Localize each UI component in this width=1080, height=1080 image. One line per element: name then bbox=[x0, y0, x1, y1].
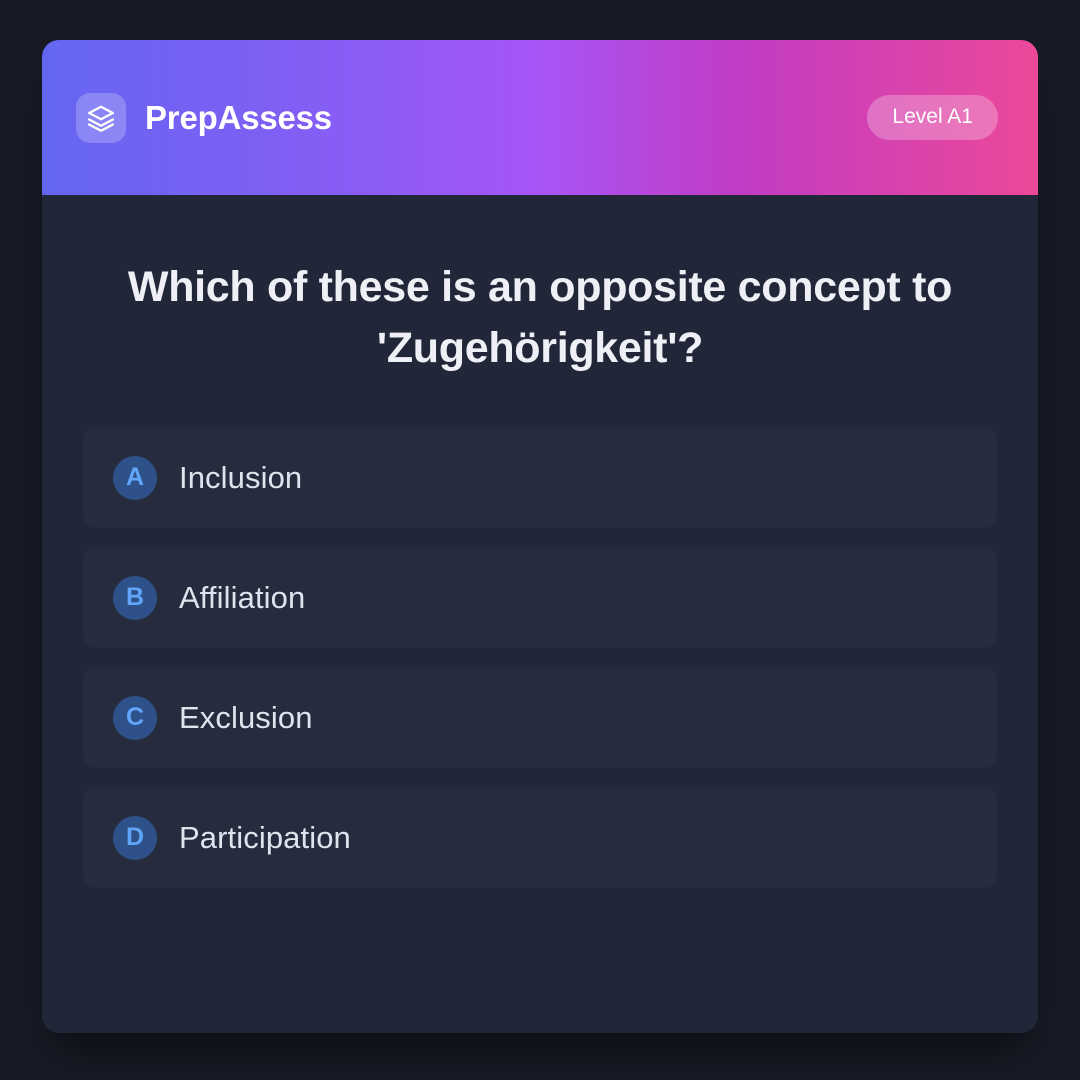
question-text: Which of these is an opposite concept to… bbox=[83, 257, 997, 379]
page-stage: PrepAssess Level A1 Which of these is an… bbox=[0, 0, 1080, 1080]
answer-option-c[interactable]: C Exclusion bbox=[83, 667, 997, 768]
answer-option-a[interactable]: A Inclusion bbox=[83, 427, 997, 528]
option-letter-badge: A bbox=[113, 456, 157, 500]
option-label: Exclusion bbox=[179, 702, 313, 733]
option-label: Participation bbox=[179, 822, 351, 853]
level-badge: Level A1 bbox=[867, 95, 998, 140]
brand-name: PrepAssess bbox=[145, 101, 332, 134]
option-label: Inclusion bbox=[179, 462, 302, 493]
app-header: PrepAssess Level A1 bbox=[42, 40, 1038, 195]
brand: PrepAssess bbox=[76, 93, 332, 143]
quiz-card: PrepAssess Level A1 Which of these is an… bbox=[42, 40, 1038, 1033]
quiz-body: Which of these is an opposite concept to… bbox=[42, 195, 1038, 1033]
answer-options-list: A Inclusion B Affiliation C Exclusion D … bbox=[83, 427, 997, 888]
layers-stack-icon bbox=[76, 93, 126, 143]
option-letter-badge: B bbox=[113, 576, 157, 620]
answer-option-b[interactable]: B Affiliation bbox=[83, 547, 997, 648]
option-letter-badge: D bbox=[113, 816, 157, 860]
answer-option-d[interactable]: D Participation bbox=[83, 787, 997, 888]
option-label: Affiliation bbox=[179, 582, 305, 613]
option-letter-badge: C bbox=[113, 696, 157, 740]
